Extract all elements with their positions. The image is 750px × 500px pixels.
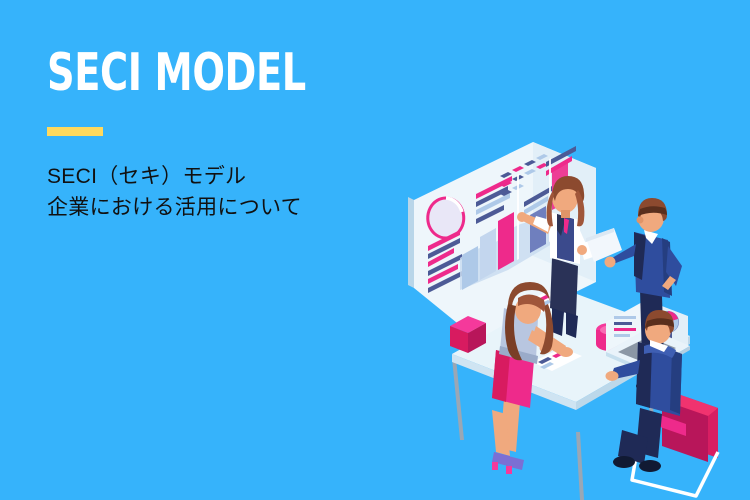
slide-canvas: SECI MODEL SECI（セキ）モデル 企業における活用について [0,0,750,500]
text-block: SECI MODEL SECI（セキ）モデル 企業における活用について [47,46,407,223]
page-title: SECI MODEL [47,46,342,100]
accent-bar [47,127,103,136]
subtitle-block: SECI（セキ）モデル 企業における活用について [47,161,407,223]
subtitle-line-2: 企業における活用について [47,192,407,223]
subtitle-line-1: SECI（セキ）モデル [47,161,407,192]
isometric-business-illustration [400,140,750,500]
